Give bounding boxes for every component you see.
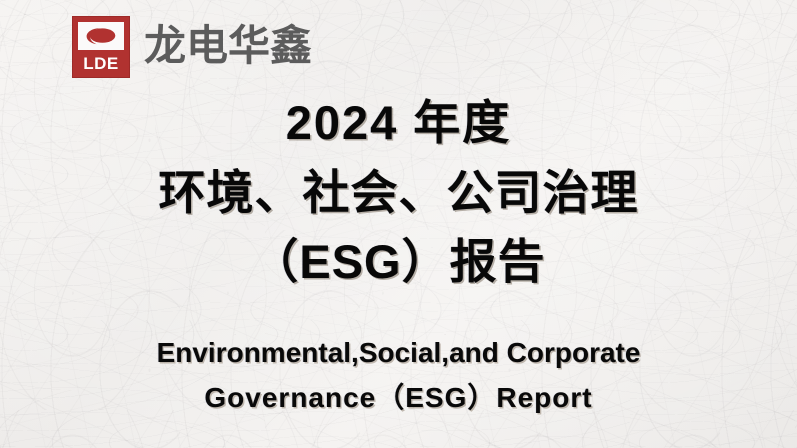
title-line-year: 2024 年度 bbox=[0, 88, 797, 158]
subtitle-line-2: Governance（ESG）Report bbox=[0, 375, 797, 420]
report-subtitle-english: Environmental,Social,and Corporate Gover… bbox=[0, 330, 797, 421]
report-cover-page: LDE 龙电华鑫 2024 年度 环境、社会、公司治理 （ESG）报告 Envi… bbox=[0, 0, 797, 448]
lde-swoosh-icon bbox=[78, 22, 124, 50]
logo-wordmark: LDE bbox=[83, 50, 119, 74]
company-logo: LDE bbox=[72, 16, 130, 78]
report-title: 2024 年度 环境、社会、公司治理 （ESG）报告 bbox=[0, 88, 797, 297]
company-name: 龙电华鑫 bbox=[144, 25, 312, 69]
brand-lockup: LDE 龙电华鑫 bbox=[72, 16, 312, 78]
subtitle-line-1: Environmental,Social,and Corporate bbox=[0, 330, 797, 375]
title-line-topic: 环境、社会、公司治理 bbox=[0, 158, 797, 228]
title-line-esg-report: （ESG）报告 bbox=[0, 227, 797, 297]
